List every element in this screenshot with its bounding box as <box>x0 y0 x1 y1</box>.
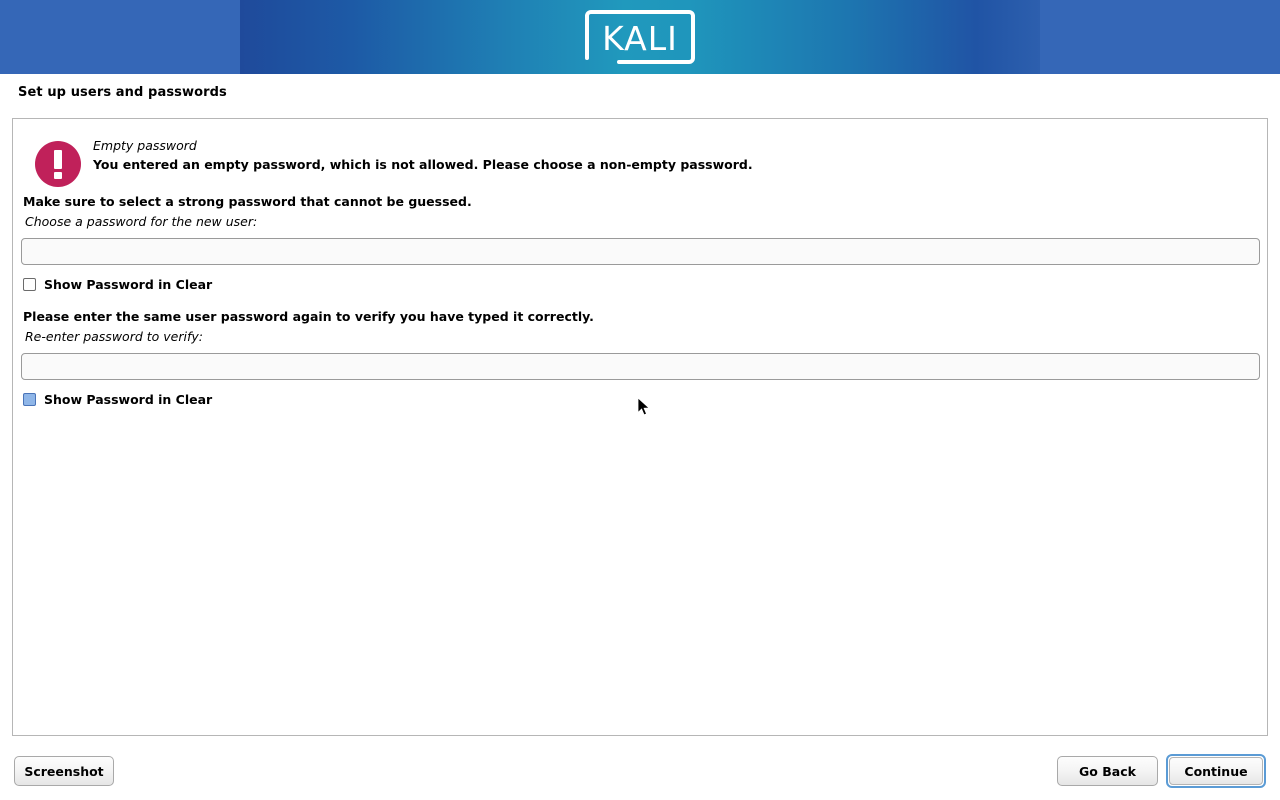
password-input[interactable] <box>21 238 1260 265</box>
page-title: Set up users and passwords <box>18 85 227 100</box>
verify-password-input[interactable] <box>21 353 1260 380</box>
show-password-clear-row-2[interactable]: Show Password in Clear <box>23 392 212 407</box>
go-back-button[interactable]: Go Back <box>1057 756 1158 786</box>
show-password-clear-label-1: Show Password in Clear <box>44 277 212 292</box>
show-password-clear-label-2: Show Password in Clear <box>44 392 212 407</box>
show-password-clear-checkbox-2[interactable] <box>23 393 36 406</box>
verify-field-label: Re-enter password to verify: <box>25 329 203 344</box>
continue-button-focus-ring: Continue <box>1166 754 1266 788</box>
screenshot-button[interactable]: Screenshot <box>14 756 114 786</box>
continue-button[interactable]: Continue <box>1169 757 1263 785</box>
kali-banner: KALI <box>0 0 1280 74</box>
password-field-label: Choose a password for the new user: <box>25 214 257 229</box>
kali-logo-icon: KALI <box>583 8 697 66</box>
verify-section-heading: Please enter the same user password agai… <box>23 309 594 324</box>
error-description: You entered an empty password, which is … <box>93 157 753 172</box>
password-section-heading: Make sure to select a strong password th… <box>23 194 472 209</box>
show-password-clear-checkbox-1[interactable] <box>23 278 36 291</box>
svg-text:KALI: KALI <box>602 19 678 58</box>
installer-window: KALI Set up users and passwords Empty pa… <box>0 0 1280 800</box>
content-panel: Empty password You entered an empty pass… <box>12 118 1268 736</box>
error-exclamation-icon <box>35 141 81 187</box>
error-title: Empty password <box>93 138 197 153</box>
show-password-clear-row-1[interactable]: Show Password in Clear <box>23 277 212 292</box>
